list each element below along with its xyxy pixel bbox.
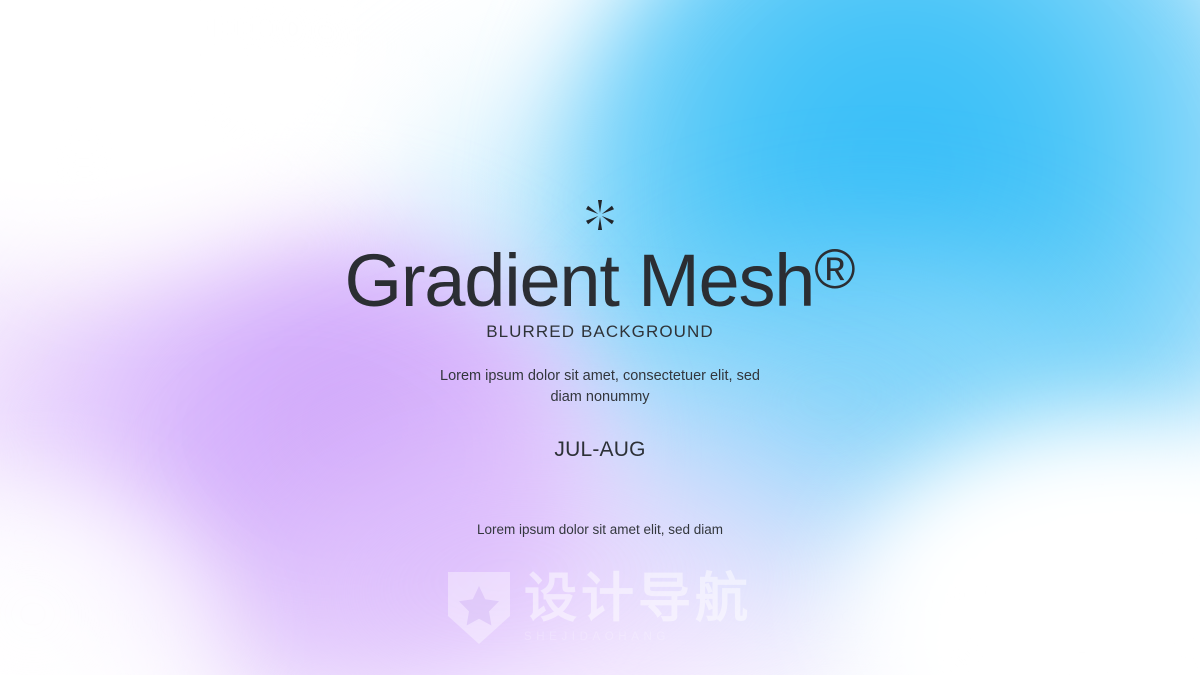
poster-canvas: Gradient Mesh® BLURRED BACKGROUND Lorem … [0, 0, 1200, 675]
asterisk-six-petal-icon [583, 198, 617, 232]
footnote-paragraph: Lorem ipsum dolor sit amet elit, sed dia… [477, 520, 723, 540]
page-title: Gradient Mesh® [344, 240, 855, 320]
period-label: JUL-AUG [554, 438, 645, 462]
poster-content: Gradient Mesh® BLURRED BACKGROUND Lorem … [0, 0, 1200, 675]
page-title-text: Gradient Mesh [344, 239, 814, 322]
page-subtitle: BLURRED BACKGROUND [486, 322, 714, 342]
registered-mark: ® [814, 237, 855, 300]
lede-paragraph: Lorem ipsum dolor sit amet, consectetuer… [435, 366, 765, 407]
